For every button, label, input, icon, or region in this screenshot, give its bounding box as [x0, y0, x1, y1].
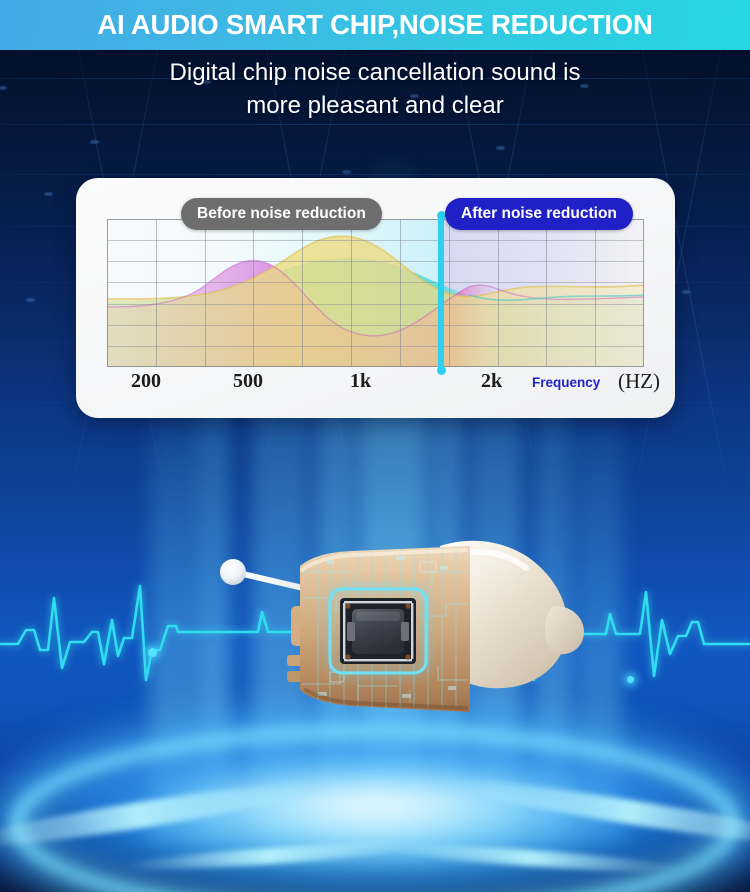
gridline-horizontal: [107, 282, 644, 283]
gridline-vertical: [253, 219, 254, 367]
chart-plot-area: [107, 219, 644, 367]
gridline-vertical: [156, 219, 157, 367]
gridline-horizontal: [107, 346, 644, 347]
axis-frequency-label: Frequency: [532, 375, 600, 390]
ecg-node-dot-mid: [507, 672, 515, 680]
gridline-vertical: [302, 219, 303, 367]
axis-unit-label: (HZ): [618, 369, 660, 394]
yellow-band: [107, 236, 644, 367]
net-horizontal-line: [0, 174, 750, 175]
net-node-dot: [44, 192, 53, 196]
axis-tick-500: 500: [233, 370, 263, 393]
gridline-vertical: [205, 219, 206, 367]
subtitle-line-1: Digital chip noise cancellation sound is: [0, 56, 750, 89]
header-banner: AI AUDIO SMART CHIP,NOISE REDUCTION: [0, 0, 750, 50]
product-infographic-page: Digital chip noise cancellation sound is…: [0, 0, 750, 892]
subtitle-line-2: more pleasant and clear: [0, 89, 750, 122]
ecg-node-dot-right: [627, 676, 634, 683]
gridline-horizontal: [107, 325, 644, 326]
gridline-horizontal: [107, 240, 644, 241]
noise-reduction-divider: [438, 214, 444, 372]
axis-tick-200: 200: [131, 370, 161, 393]
axis-tick-1k: 1k: [350, 370, 371, 393]
net-node-dot: [90, 140, 99, 144]
ecg-node-dot-left: [148, 648, 157, 657]
page-subtitle: Digital chip noise cancellation sound is…: [0, 56, 750, 122]
badge-before-noise-reduction[interactable]: Before noise reduction: [181, 198, 382, 230]
gridline-vertical: [400, 219, 401, 367]
gridline-vertical: [595, 219, 596, 367]
gridline-horizontal: [107, 261, 644, 262]
net-node-dot: [26, 298, 35, 302]
gridline-horizontal: [107, 304, 644, 305]
axis-tick-2k: 2k: [481, 370, 502, 393]
noise-reduction-chart-card: Before noise reduction After noise reduc…: [76, 178, 675, 418]
gridline-vertical: [449, 219, 450, 367]
ecg-waveform: [0, 560, 750, 720]
net-node-dot: [496, 146, 505, 150]
waveform-bands: [107, 219, 644, 367]
gridline-vertical: [351, 219, 352, 367]
gridline-vertical: [498, 219, 499, 367]
net-node-dot: [682, 290, 691, 294]
badge-after-noise-reduction[interactable]: After noise reduction: [445, 198, 633, 230]
net-node-dot: [342, 170, 351, 174]
gridline-vertical: [546, 219, 547, 367]
banner-title: AI AUDIO SMART CHIP,NOISE REDUCTION: [97, 9, 652, 41]
net-horizontal-line: [0, 124, 750, 125]
chart-x-axis: 200 500 1k 2k Frequency (HZ): [107, 370, 675, 400]
